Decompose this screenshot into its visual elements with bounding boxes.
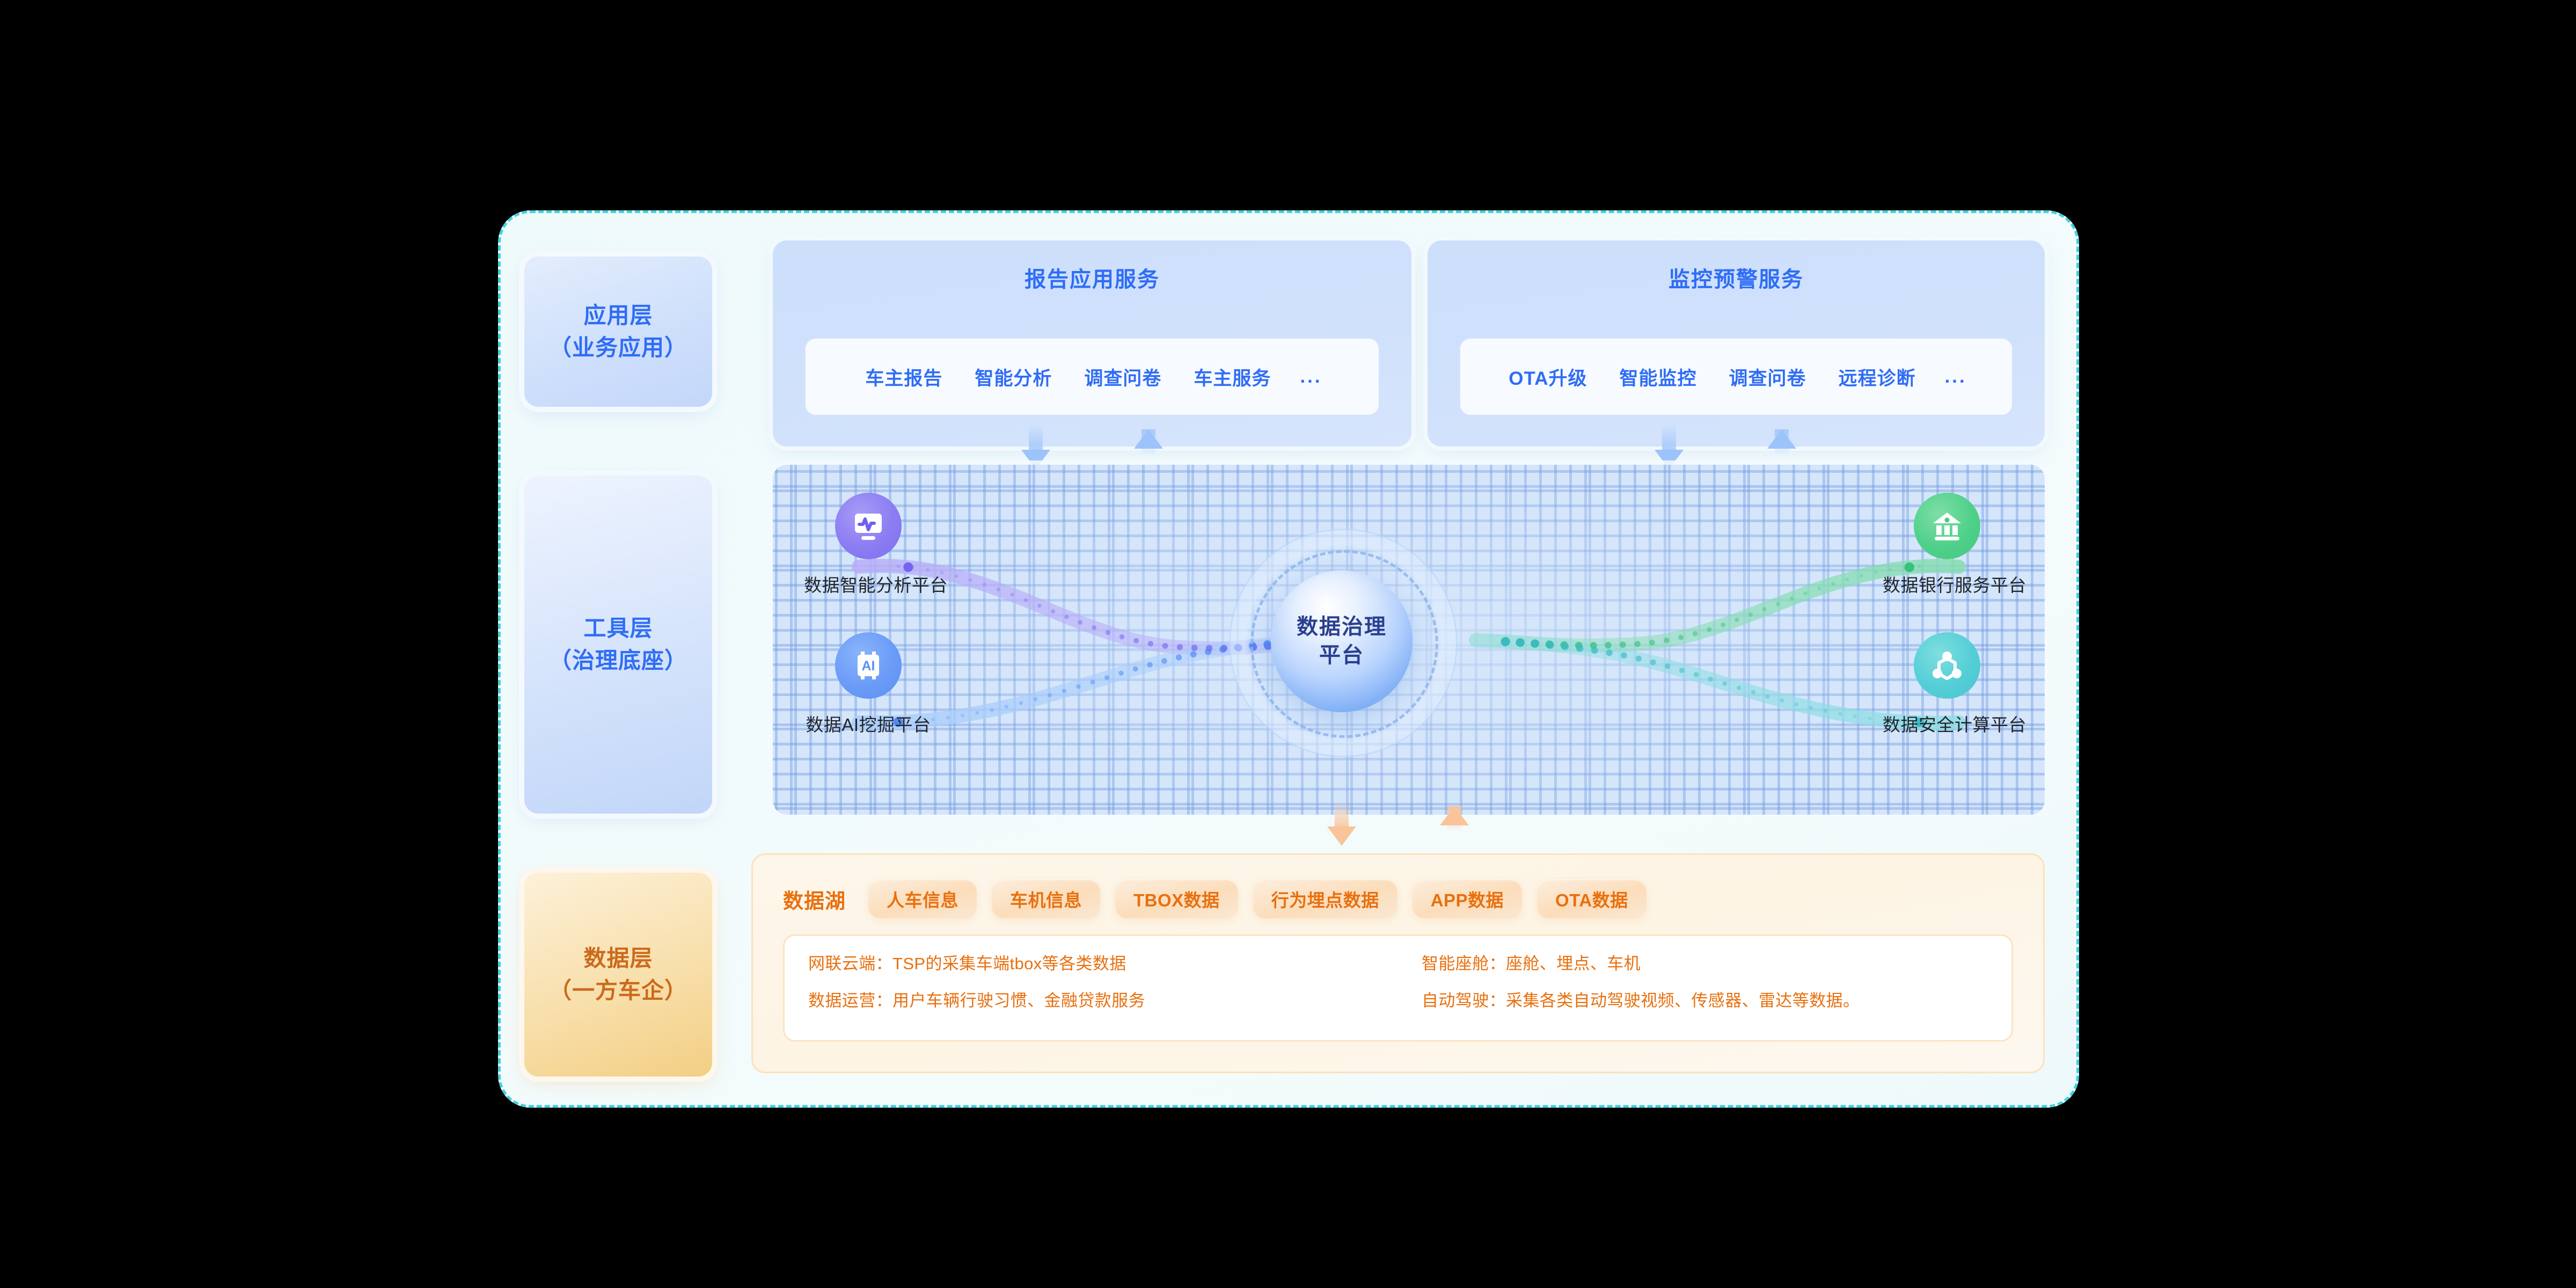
secure-node-icon: [1914, 632, 1980, 699]
data-description-box: 网联云端：TSP的采集车端tbox等各类数据 数据运营：用户车辆行驶习惯、金融贷…: [783, 934, 2013, 1042]
bank-icon: [1914, 493, 1980, 559]
monitor-pulse-icon: [835, 493, 902, 559]
service-tag-monitor-3[interactable]: 远程诊断: [1823, 363, 1932, 391]
platform-node-data-bank[interactable]: 数据银行服务平台: [1883, 493, 2011, 597]
data-lake-title: 数据湖: [783, 884, 846, 914]
platform-label-secure-compute: 数据安全计算平台: [1883, 711, 2011, 736]
arrow-up-tool-to-report: [1134, 429, 1163, 449]
data-description-column-left: 网联云端：TSP的采集车端tbox等各类数据 数据运营：用户车辆行驶习惯、金融贷…: [785, 936, 1398, 1040]
layer-card-application: 应用层 （业务应用）: [524, 257, 712, 407]
layer-card-data: 数据层 （一方车企）: [524, 873, 712, 1077]
platform-label-analysis: 数据智能分析平台: [804, 571, 933, 597]
service-title-monitor: 监控预警服务: [1428, 262, 2045, 293]
service-tagbar-report: 车主报告 智能分析 调查问卷 车主服务 ...: [804, 337, 1380, 416]
layer-subtitle-tool: （治理底座）: [549, 645, 687, 677]
layer-title-data: 数据层: [583, 942, 653, 975]
platform-node-secure-compute[interactable]: 数据安全计算平台: [1883, 632, 2011, 736]
ai-chip-icon: AI: [835, 632, 902, 699]
arrow-down-tail-monitor: [1662, 424, 1676, 451]
arrow-up-tool-to-monitor: [1767, 429, 1796, 449]
service-card-monitor[interactable]: 监控预警服务 OTA升级 智能监控 调查问卷 远程诊断 ...: [1428, 240, 2045, 447]
data-description-column-right: 智能座舱：座舱、埋点、车机 自动驾驶：采集各类自动驾驶视频、传感器、雷达等数据。: [1398, 936, 2011, 1040]
platform-label-ai-mining: 数据AI挖掘平台: [804, 711, 933, 736]
service-title-report: 报告应用服务: [773, 262, 1411, 293]
data-layer-panel: 数据湖 人车信息 车机信息 TBOX数据 行为埋点数据 APP数据 OTA数据 …: [751, 853, 2045, 1073]
service-tag-report-2[interactable]: 调查问卷: [1068, 363, 1177, 391]
data-lake-chip-3[interactable]: 行为埋点数据: [1253, 880, 1397, 918]
service-tag-report-0[interactable]: 车主报告: [849, 363, 958, 391]
data-lake-chip-2[interactable]: TBOX数据: [1115, 880, 1238, 918]
layer-title-tool: 工具层: [583, 612, 653, 645]
service-tag-report-1[interactable]: 智能分析: [958, 363, 1068, 391]
service-tag-report-more[interactable]: ...: [1287, 366, 1335, 387]
service-tag-report-3[interactable]: 车主服务: [1177, 363, 1287, 391]
arrow-down-tool-to-data: [1327, 826, 1356, 846]
layer-subtitle-application: （业务应用）: [549, 332, 687, 364]
service-tag-monitor-2[interactable]: 调查问卷: [1713, 363, 1823, 391]
hub-sphere-data-governance-platform[interactable]: 数据治理 平台: [1271, 570, 1413, 712]
platform-label-data-bank: 数据银行服务平台: [1883, 571, 2011, 597]
platform-node-analysis[interactable]: 数据智能分析平台: [804, 493, 933, 597]
layer-title-application: 应用层: [583, 299, 653, 332]
data-lake-chip-4[interactable]: APP数据: [1413, 880, 1522, 918]
service-card-report[interactable]: 报告应用服务 车主报告 智能分析 调查问卷 车主服务 ...: [773, 240, 1411, 447]
layer-card-tool: 工具层 （治理底座）: [524, 475, 712, 814]
arrow-down-tail-tool-to-data: [1335, 801, 1349, 828]
arrow-down-tail-report: [1029, 424, 1043, 451]
service-tag-monitor-1[interactable]: 智能监控: [1604, 363, 1713, 391]
center-hub: 数据治理 平台: [1229, 529, 1454, 754]
hub-title-line1: 数据治理: [1297, 613, 1387, 641]
service-tagbar-monitor: OTA升级 智能监控 调查问卷 远程诊断 ...: [1459, 337, 2014, 416]
layer-rail: 应用层 （业务应用） 工具层 （治理底座） 数据层 （一方车企）: [524, 240, 712, 1078]
layer-subtitle-data: （一方车企）: [549, 975, 687, 1007]
service-tag-monitor-0[interactable]: OTA升级: [1492, 363, 1603, 391]
data-description-left-1: 数据运营：用户车辆行驶习惯、金融贷款服务: [808, 992, 1398, 1009]
hub-title-line2: 平台: [1319, 641, 1364, 670]
data-lake-chip-0[interactable]: 人车信息: [868, 880, 977, 918]
service-tag-monitor-more[interactable]: ...: [1932, 366, 1980, 387]
data-description-right-1: 自动驾驶：采集各类自动驾驶视频、传感器、雷达等数据。: [1422, 992, 2011, 1009]
svg-text:AI: AI: [862, 658, 875, 674]
arrow-up-data-to-tool: [1440, 806, 1469, 825]
data-lake-chip-1[interactable]: 车机信息: [992, 880, 1100, 918]
data-description-right-0: 智能座舱：座舱、埋点、车机: [1422, 955, 2011, 972]
data-description-left-0: 网联云端：TSP的采集车端tbox等各类数据: [808, 955, 1398, 972]
data-lake-row: 数据湖 人车信息 车机信息 TBOX数据 行为埋点数据 APP数据 OTA数据: [783, 877, 2013, 920]
data-lake-chip-5[interactable]: OTA数据: [1537, 880, 1646, 918]
platform-node-ai-mining[interactable]: AI 数据AI挖掘平台: [804, 632, 933, 736]
